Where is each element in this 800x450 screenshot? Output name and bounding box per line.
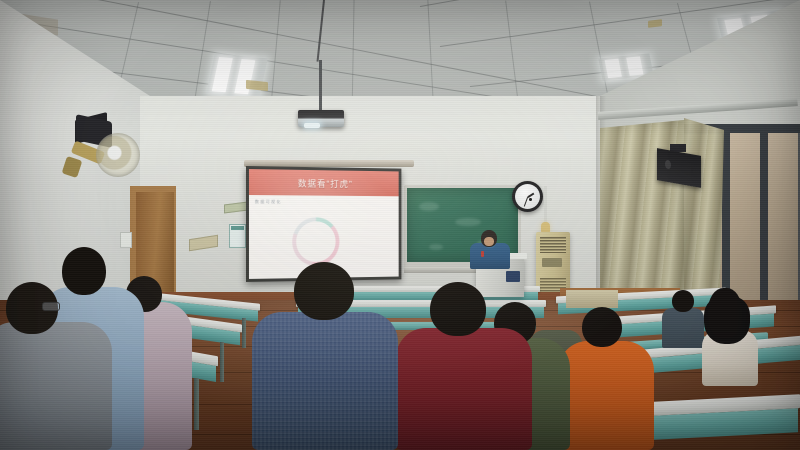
presenter-face xyxy=(484,237,494,246)
student-head xyxy=(672,290,694,312)
window-mullion xyxy=(760,124,768,328)
rear-shelf xyxy=(566,290,618,308)
air-conditioner-unit[interactable] xyxy=(536,232,570,296)
window-pane xyxy=(768,124,798,324)
student-navy-checked-jacket xyxy=(252,312,398,450)
wall-conduit xyxy=(544,186,547,226)
wall-notice-header xyxy=(231,226,244,230)
clock-face xyxy=(515,184,540,209)
clock-minute-hand xyxy=(524,197,529,207)
classroom-photo: 数据看“打虎” 数据可视化 xyxy=(0,0,800,450)
projector-mount-pole xyxy=(319,60,322,112)
podium-monitor xyxy=(506,271,520,282)
wall-notice xyxy=(229,224,246,248)
speaker-cone xyxy=(665,160,671,170)
donut-chart xyxy=(292,217,340,266)
ceiling-light-fixture xyxy=(206,54,267,99)
slide-title: 数据看“打虎” xyxy=(298,176,353,189)
student-head xyxy=(430,282,486,336)
projector-icon xyxy=(298,110,344,127)
wall-clock-icon xyxy=(512,181,543,212)
ac-control-panel[interactable] xyxy=(542,258,562,267)
light-switch[interactable] xyxy=(120,232,132,248)
student-back-row-blue xyxy=(662,308,704,348)
student-maroon-sweater xyxy=(396,328,532,450)
slide-header-band: 数据看“打虎” xyxy=(249,169,399,196)
student-orange-shirt xyxy=(558,341,654,450)
slide-subtext: 数据可视化 xyxy=(255,199,282,205)
ac-vent-grill xyxy=(540,237,566,253)
presenter-head xyxy=(481,230,497,247)
presenter-badge xyxy=(481,251,484,257)
student-head xyxy=(582,307,622,347)
student-head xyxy=(62,247,106,295)
clock-center-pin xyxy=(529,198,532,201)
projector-lens xyxy=(304,123,320,128)
student-grey-shirt xyxy=(0,322,112,450)
student-head xyxy=(708,288,742,338)
student-head xyxy=(294,262,354,320)
clock-hour-hand xyxy=(527,193,534,198)
wall-fan-icon xyxy=(96,133,140,177)
glasses-icon xyxy=(42,302,60,311)
